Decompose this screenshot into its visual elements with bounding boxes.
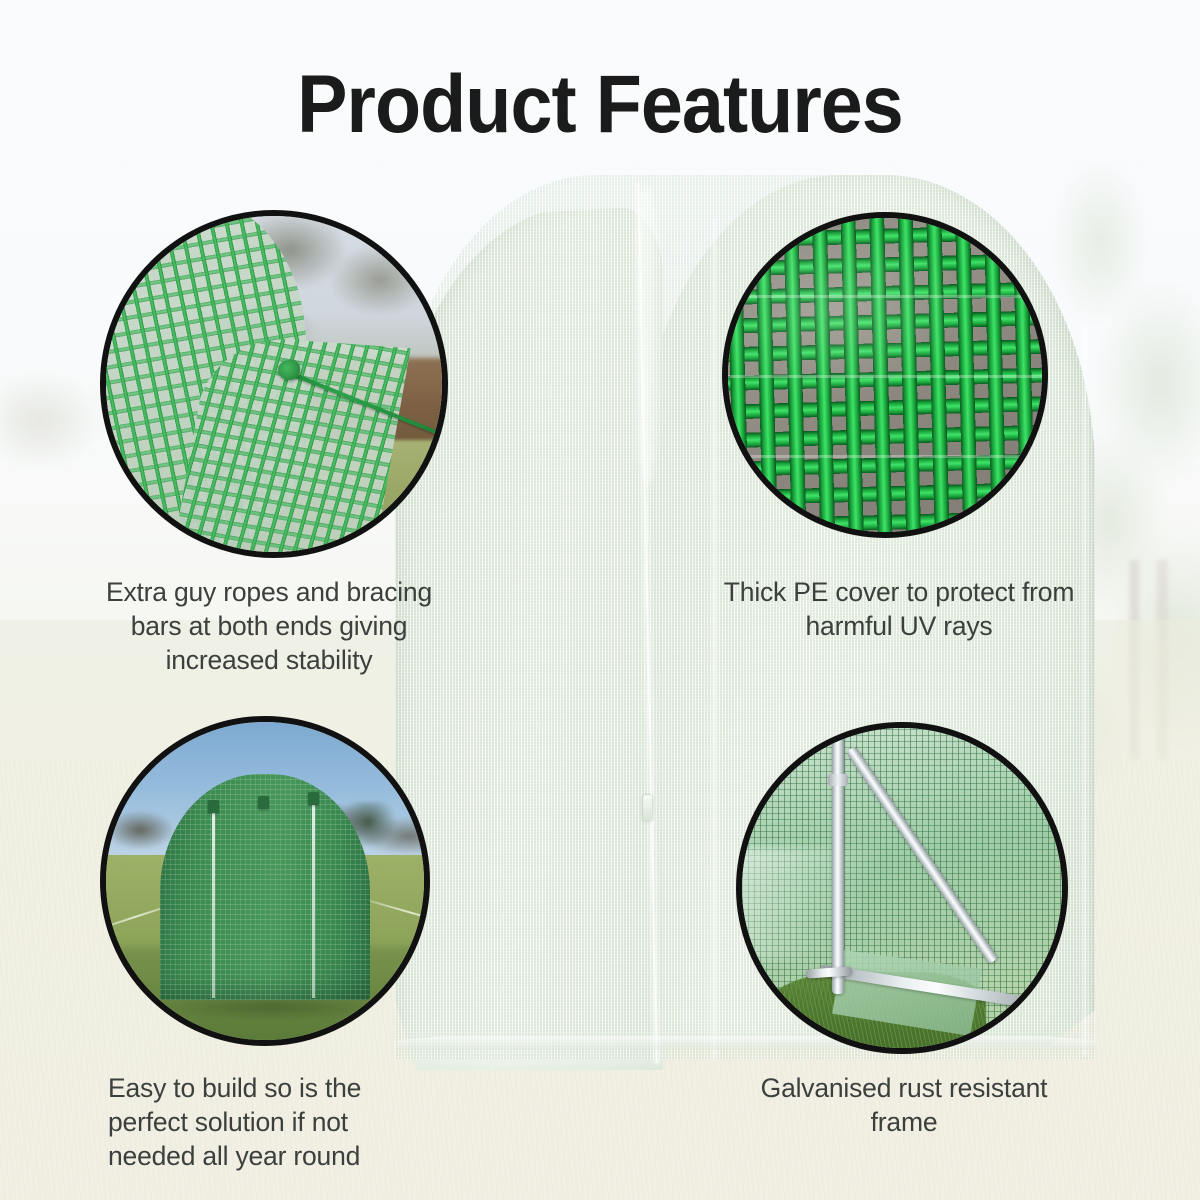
feature-image-guy-ropes[interactable] <box>100 210 448 558</box>
photo4-mesh-sheen <box>736 848 889 961</box>
feature-caption-pe-cover: Thick PE cover to protect from harmful U… <box>712 576 1086 644</box>
photo3-door-zip <box>312 796 315 998</box>
feature-image-easy-build[interactable] <box>100 716 430 1046</box>
greenhouse-seam <box>1083 325 1087 1055</box>
photo2-glare <box>722 212 1048 538</box>
photo3-zip-tab <box>208 800 219 813</box>
greenhouse-zip-pull <box>643 795 652 821</box>
photo4-pole-connector <box>828 774 848 786</box>
product-features-infographic: Product Features Extra guy ropes and bra… <box>0 0 1200 1200</box>
page-title: Product Features <box>48 64 1152 146</box>
photo3-door-zip <box>212 804 215 998</box>
photo-pe-mesh-macro-closeup <box>722 212 1048 538</box>
photo-green-polytunnel-on-lawn <box>100 716 430 1046</box>
photo3-zip-tab <box>258 796 269 809</box>
photo4-upright-pole <box>832 722 844 994</box>
photo-galvanised-steel-brace-frame <box>736 722 1068 1054</box>
photo3-zip-tab <box>308 792 319 805</box>
photo1-rope-knot <box>278 360 300 380</box>
feature-image-pe-cover[interactable] <box>722 212 1048 538</box>
feature-caption-galvanised-frame: Galvanised rust resistant frame <box>726 1072 1082 1140</box>
feature-caption-guy-ropes: Extra guy ropes and bracing bars at both… <box>78 576 460 678</box>
feature-caption-easy-build: Easy to build so is the perfect solution… <box>108 1072 438 1174</box>
photo3-polytunnel <box>160 774 370 1000</box>
feature-image-galvanised-frame[interactable] <box>736 722 1068 1054</box>
photo-green-mesh-corner-with-guy-rope <box>100 210 448 558</box>
